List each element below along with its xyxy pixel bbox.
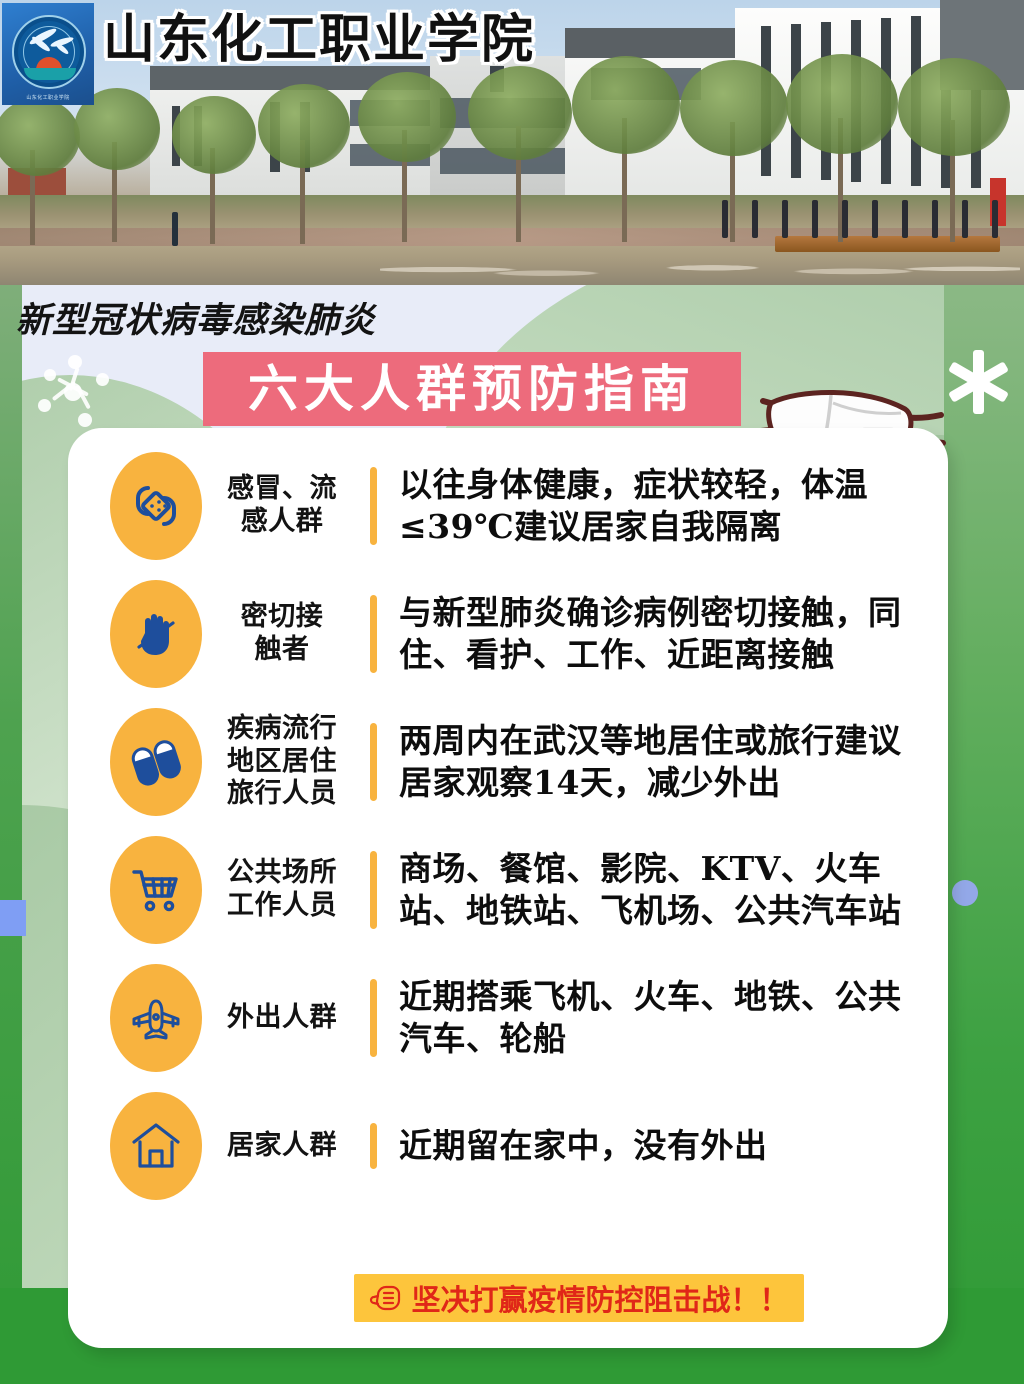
person [842,200,848,238]
capsule-pills-icon [110,708,202,816]
group-description: 两周内在武汉等地居住或旅行建议居家观察14天，减少外出 [399,720,924,804]
school-emblem: 山东化工职业学院 [2,3,94,105]
slogan-banner: 坚决打赢疫情防控阻击战！！ [354,1274,804,1322]
group-list: 感冒、流 感人群 以往身体健康，症状较轻，体温≤39℃建议居家自我隔离 密切接 … [68,442,948,1210]
list-item[interactable]: 居家人群 近期留在家中，没有外出 [68,1082,948,1210]
list-item[interactable]: 外出人群 近期搭乘飞机、火车、地铁、公共汽车、轮船 [68,954,948,1082]
house-icon [110,1092,202,1200]
group-label: 感冒、流 感人群 [216,473,348,539]
slogan-text: 坚决打赢疫情防控阻击战！！ [411,1277,788,1319]
stop-hand-icon [110,580,202,688]
molecule-icon [38,355,116,433]
divider [370,979,377,1057]
campus-photo-banner: 山东化工职业学院 山东化工职业学院 [0,0,1024,285]
left-green-frame [0,285,22,1384]
tree-canopy [258,84,350,168]
group-description: 商场、餐馆、影院、KTV、火车站、地铁站、飞机场、公共汽车站 [399,848,924,932]
airplane-icon [110,964,202,1072]
person [872,200,878,238]
person [752,200,758,238]
divider [370,595,377,673]
person [902,200,908,238]
group-label: 居家人群 [216,1130,348,1163]
tree-canopy [786,54,898,154]
group-description: 与新型肺炎确诊病例密切接触，同住、看护、工作、近距离接触 [399,592,924,676]
tree-canopy [680,60,788,156]
list-item[interactable]: 公共场所 工作人员 商场、餐馆、影院、KTV、火车站、地铁站、飞机场、公共汽车站 [68,826,948,954]
tree-canopy [468,66,572,160]
rock-garden [380,248,1020,284]
blue-accent-band [0,900,26,936]
list-item[interactable]: 密切接 触者 与新型肺炎确诊病例密切接触，同住、看护、工作、近距离接触 [68,570,948,698]
group-label: 密切接 触者 [216,601,348,667]
poster-root: 山东化工职业学院 山东化工职业学院 新型冠状病毒感染肺炎 六大人群预防指南 [0,0,1024,1384]
person [722,200,728,238]
page-title: 六大人群预防指南 [248,364,696,414]
person [992,200,998,238]
group-label: 公共场所 工作人员 [216,857,348,923]
shopping-cart-icon [110,836,202,944]
group-description: 近期留在家中，没有外出 [399,1125,924,1167]
person [962,200,968,238]
person [932,200,938,238]
poster-title-banner: 六大人群预防指南 [203,352,741,426]
list-item[interactable]: 疾病流行 地区居住 旅行人员 两周内在武汉等地居住或旅行建议居家观察14天，减少… [68,698,948,826]
person [782,200,788,238]
tree-canopy [572,56,680,154]
person [812,200,818,238]
wooden-bench [775,236,1000,252]
tree-canopy [172,96,256,174]
tree-canopy [0,98,80,176]
divider [370,467,377,545]
tree-canopy [358,72,456,162]
group-description: 以往身体健康，症状较轻，体温≤39℃建议居家自我隔离 [399,464,924,548]
group-label: 外出人群 [216,1002,348,1035]
person [172,212,178,246]
bandage-icon [110,452,202,560]
divider [370,851,377,929]
poster-subtitle: 新型冠状病毒感染肺炎 [16,292,376,343]
school-name-title: 山东化工职业学院 [103,14,535,66]
fist-icon [369,1283,403,1313]
list-item[interactable]: 感冒、流 感人群 以往身体健康，症状较轻，体温≤39℃建议居家自我隔离 [68,442,948,570]
blue-dot-decoration [952,880,978,906]
guidance-card: 感冒、流 感人群 以往身体健康，症状较轻，体温≤39℃建议居家自我隔离 密切接 … [68,428,948,1348]
divider [370,1123,377,1169]
tree-canopy [898,58,1010,156]
emblem-caption: 山东化工职业学院 [8,94,88,101]
group-description: 近期搭乘飞机、火车、地铁、公共汽车、轮船 [399,976,924,1060]
divider [370,723,377,801]
group-label: 疾病流行 地区居住 旅行人员 [216,713,348,812]
